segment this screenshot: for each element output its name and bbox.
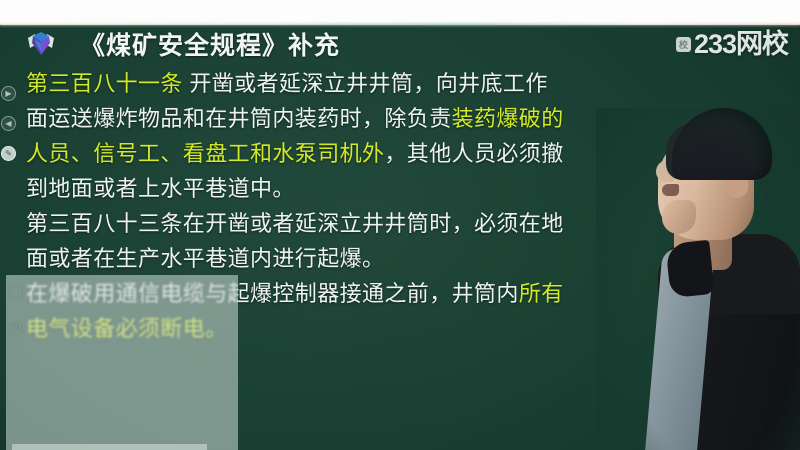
highlighted-text: 第三百八十一条 bbox=[26, 71, 183, 96]
slide-text-line: 面运送爆炸物品和在井筒内装药时，除负责装药爆破的 bbox=[26, 101, 546, 136]
body-text: 面或者在生产水平巷道内进行起爆。 bbox=[26, 246, 384, 271]
note-panel-footer-bar bbox=[12, 444, 207, 450]
watermark: 校 233网校 bbox=[676, 31, 788, 58]
note-panel-icons[interactable]: ⋯❐ bbox=[9, 285, 29, 357]
body-text: 面运送爆炸物品和在井筒内装药时，除负责 bbox=[26, 106, 452, 131]
page-title: 《煤矿安全规程》补充 bbox=[80, 26, 340, 62]
presenter-collar bbox=[665, 240, 714, 298]
watermark-text: 233网校 bbox=[694, 31, 788, 58]
slide-text-line: 第三百八十一条 开凿或者延深立井井筒，向井底工作 bbox=[26, 66, 546, 101]
body-text: 第三百八十三条在开凿或者延深立井井筒时，必须在地 bbox=[26, 211, 564, 236]
gem-logo bbox=[24, 29, 58, 59]
presenter-hair bbox=[672, 108, 772, 180]
highlighted-text: 装药爆破的 bbox=[452, 106, 564, 131]
slide-text-line: 人员、信号工、看盘工和水泵司机外，其他人员必须撤 bbox=[26, 136, 546, 171]
presenter-figure bbox=[596, 108, 800, 450]
body-text: 开凿或者延深立井井筒，向井底工作 bbox=[183, 71, 548, 96]
presenter-mouth bbox=[662, 184, 679, 196]
highlighted-text: 所有 bbox=[519, 281, 564, 306]
slide-text-line: 面或者在生产水平巷道内进行起爆。 bbox=[26, 241, 546, 276]
watermark-badge: 校 bbox=[676, 37, 691, 52]
top-band-tint bbox=[0, 23, 800, 26]
play-circle-icon[interactable]: ▶ bbox=[1, 86, 16, 101]
body-text: 到地面或者上水平巷道中。 bbox=[26, 176, 295, 201]
highlighted-text: 人员、信号工、看盘工和水泵司机外 bbox=[26, 141, 384, 166]
more-circle-icon[interactable]: ⋯ bbox=[9, 285, 23, 299]
slide-header: 《煤矿安全规程》补充 校 233网校 bbox=[0, 25, 800, 65]
pen-circle-icon[interactable]: ✎ bbox=[1, 146, 16, 161]
slide-text-line: 到地面或者上水平巷道中。 bbox=[26, 171, 546, 206]
video-frame: 《煤矿安全规程》补充 校 233网校 ▶◀✎ 第三百八十一条 开凿或者延深立井井… bbox=[0, 0, 800, 450]
slide-text-line: 第三百八十三条在开凿或者延深立井井筒时，必须在地 bbox=[26, 206, 546, 241]
body-text: ，其他人员必须撤 bbox=[384, 141, 563, 166]
copy-circle-icon[interactable]: ❐ bbox=[9, 321, 23, 335]
top-white-band bbox=[0, 0, 800, 25]
back-circle-icon[interactable]: ◀ bbox=[1, 116, 16, 131]
translucent-note-overlay[interactable]: ⋯❐ bbox=[6, 275, 238, 450]
left-tool-rail[interactable]: ▶◀✎ bbox=[1, 86, 23, 176]
